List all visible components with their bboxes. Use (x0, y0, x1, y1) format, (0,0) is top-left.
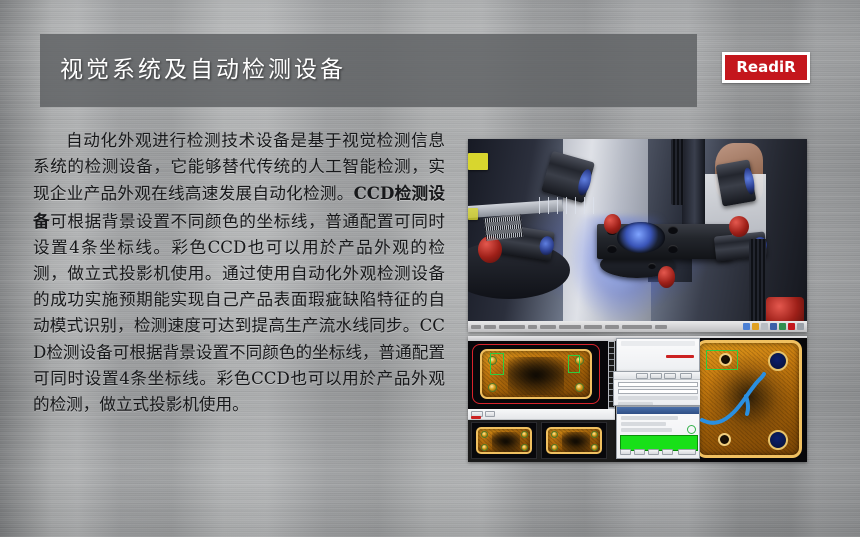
taskbar-item[interactable] (559, 325, 581, 329)
pcb-pad (591, 431, 598, 438)
result-progress-indicator (687, 425, 696, 434)
taskbar-item[interactable] (605, 325, 619, 329)
tray-icon-window[interactable] (743, 323, 750, 330)
pcb-defect-area-dark (562, 432, 590, 452)
pcb-defect-closeup-canvas (700, 338, 807, 462)
pcb-thumbnail-toolbar[interactable] (468, 409, 615, 420)
dialog-toolbar-button[interactable] (664, 373, 676, 379)
dialog-toolbar[interactable] (614, 372, 702, 380)
result-window-titlebar[interactable] (617, 407, 699, 414)
machine-barcode-label (484, 214, 524, 242)
result-button[interactable] (648, 449, 659, 455)
pcb-pad (521, 431, 528, 438)
pcb-pad (575, 383, 584, 392)
pcb-pad (481, 431, 488, 438)
brand-logo-text: ReadiR (736, 60, 795, 75)
pcb-defect-area-dark (508, 357, 564, 395)
machine-red-knob-center (604, 214, 621, 233)
taskbar-item[interactable] (471, 325, 481, 329)
machine-plate-hole-2 (607, 245, 617, 253)
taskbar-item[interactable] (499, 325, 525, 329)
dialog-label-row (618, 396, 698, 400)
result-button[interactable] (620, 449, 631, 455)
machine-pins-row (539, 197, 597, 214)
machine-plate-hole-4 (668, 245, 678, 253)
taskbar-left-items (468, 325, 743, 329)
machine-plate-hole-3 (668, 226, 678, 234)
vision-inspection-machine-photo (468, 139, 807, 332)
result-button[interactable] (634, 449, 645, 455)
pcb-pad (551, 431, 558, 438)
body-paragraph-part2: 可根据背景设置不同颜色的坐标线，普通配置可同时设置4条坐标线。彩色CCD也可以用… (33, 212, 445, 414)
tray-icon-app[interactable] (761, 323, 768, 330)
result-label-row (621, 416, 678, 420)
pcb-thumbnail-left[interactable] (471, 422, 537, 459)
report-warning-text (666, 355, 694, 358)
pcb-pad (488, 383, 497, 392)
taskbar-tray-icons (743, 323, 807, 330)
brand-logo: ReadiR (722, 52, 810, 83)
machine-cable-right (749, 239, 766, 324)
tray-icon-browser[interactable] (770, 323, 777, 330)
taskbar-item[interactable] (540, 325, 556, 329)
dialog-input-field[interactable] (618, 389, 698, 394)
pcb-pad (551, 444, 558, 451)
taskbar-item[interactable] (584, 325, 602, 329)
machine-scene (468, 139, 807, 332)
page-title: 视觉系统及自动检测设备 (60, 50, 346, 84)
machine-red-knob-bottom (658, 266, 675, 287)
tray-icon-media[interactable] (779, 323, 786, 330)
dialog-input-field[interactable] (618, 382, 698, 387)
taskbar-item[interactable] (484, 325, 496, 329)
pcb-pad (481, 444, 488, 451)
result-button[interactable] (662, 449, 673, 455)
toolbar-button[interactable] (485, 411, 495, 417)
pcb-thumbnail-right[interactable] (541, 422, 607, 459)
inspection-software-screenshot (468, 336, 807, 462)
taskbar-item[interactable] (622, 325, 652, 329)
pcb-scratch-defect-marking (700, 338, 807, 462)
tray-icon-folder[interactable] (752, 323, 759, 330)
tray-icon-alert[interactable] (788, 323, 795, 330)
machine-cable-top (671, 139, 685, 205)
pcb-pad (591, 444, 598, 451)
pcb-board-thumb (546, 427, 602, 454)
pcb-defect-area-dark (492, 432, 520, 452)
dialog-toolbar-button[interactable] (650, 373, 662, 379)
pcb-measure-box-right (568, 355, 580, 373)
body-paragraph: 自动化外观进行检测技术设备是基于视觉检测信息系统的检测设备，它能够替代传统的人工… (33, 128, 445, 418)
result-button[interactable] (678, 449, 696, 455)
pcb-main-view-canvas (468, 341, 608, 409)
taskbar-item[interactable] (528, 325, 537, 329)
dialog-toolbar-button[interactable] (636, 373, 648, 379)
result-label-row (621, 422, 666, 426)
machine-inspection-aperture (617, 222, 664, 253)
slide-canvas: 视觉系统及自动检测设备 ReadiR 自动化外观进行检测技术设备是基于视觉检测信… (0, 0, 860, 537)
toolbar-status-text (471, 416, 481, 419)
pcb-pad (521, 444, 528, 451)
pcb-board-thumb (476, 427, 532, 454)
pcb-measure-box-left (490, 353, 504, 375)
software-result-window[interactable] (616, 406, 700, 459)
dialog-toolbar-button[interactable] (680, 373, 692, 379)
result-button-row (620, 449, 698, 456)
camera-lens-top-right (715, 160, 756, 208)
taskbar-item[interactable] (655, 325, 667, 329)
machine-yellow-label-2 (468, 208, 478, 220)
result-label-row (621, 428, 672, 432)
software-parameter-dialog[interactable] (613, 371, 703, 406)
machine-yellow-label-1 (468, 153, 488, 170)
photo-taskbar[interactable] (468, 321, 807, 332)
brand-logo-plate: ReadiR (725, 55, 807, 80)
report-header-row (621, 341, 695, 346)
tray-icon-misc[interactable] (797, 323, 804, 330)
